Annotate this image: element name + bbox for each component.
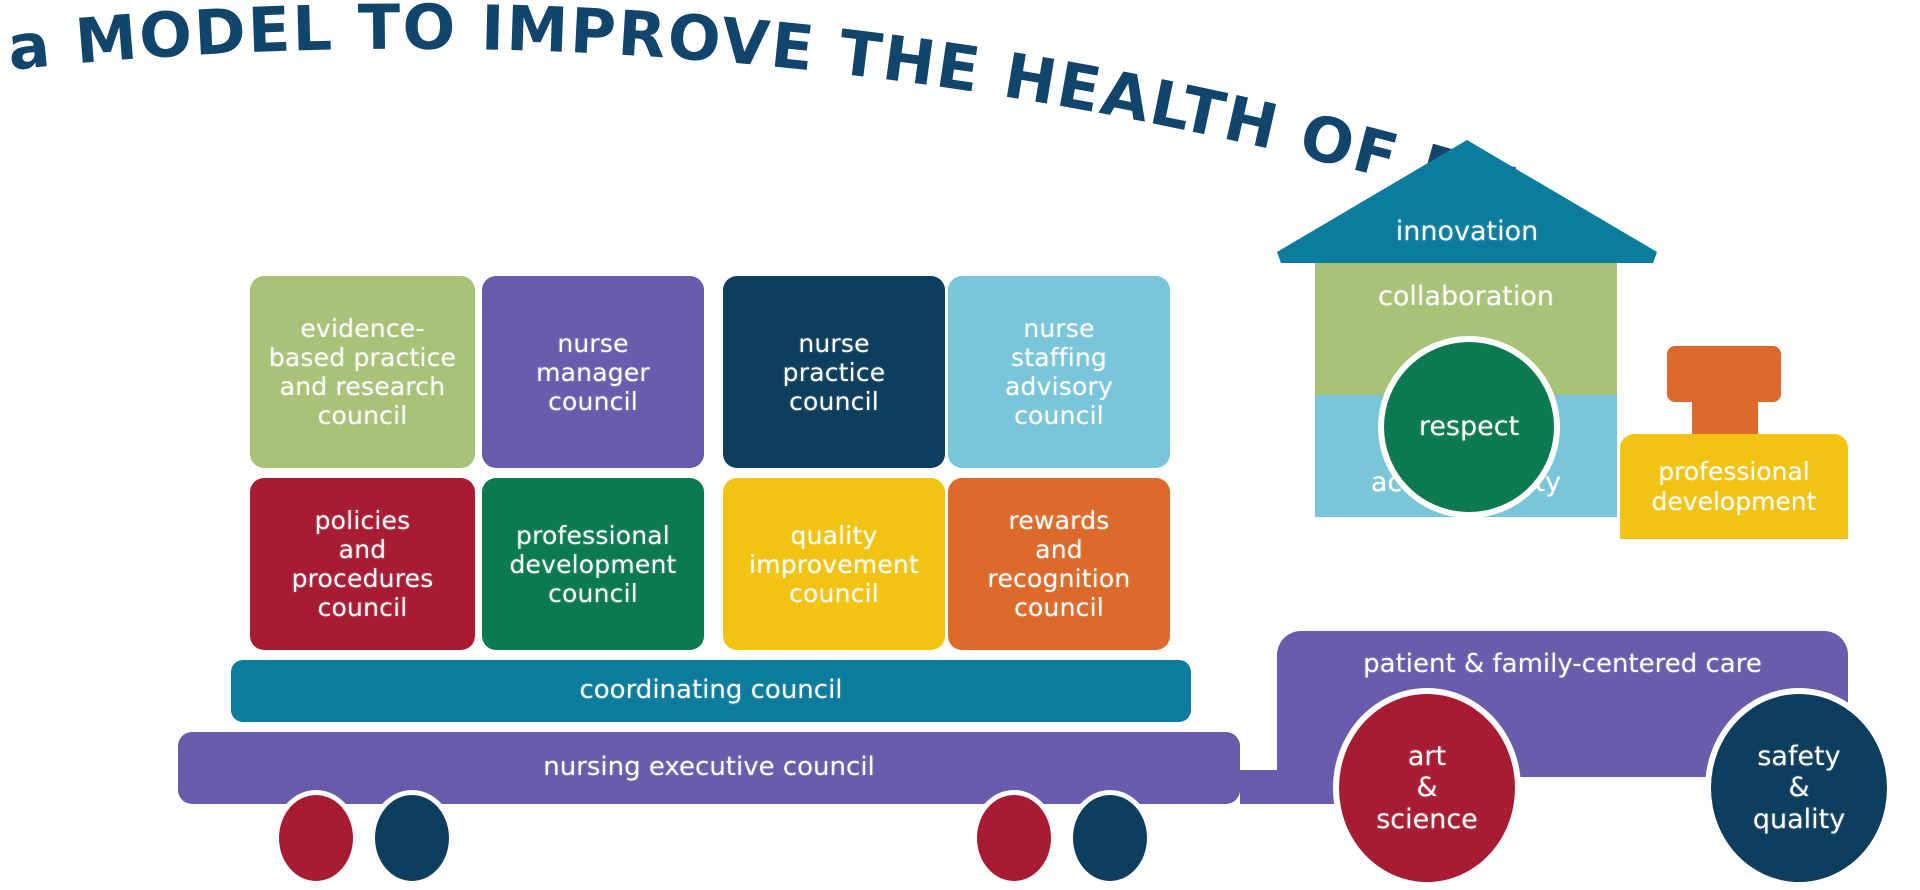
council-card-evidence-based-practice[interactable]: evidence- based practice and research co… — [250, 276, 475, 468]
council-card-rewards-and-recognition[interactable]: rewards and recognition council — [948, 478, 1170, 650]
diagram-canvas: a MODEL TO IMPROVE THE HEALTH OF EVERY C… — [0, 0, 1920, 890]
council-card-nurse-manager[interactable]: nurse manager council — [482, 276, 704, 468]
nursing-executive-council-bar[interactable]: nursing executive council — [178, 732, 1240, 804]
council-card-nurse-practice[interactable]: nurse practice council — [723, 276, 945, 468]
car-wheel-4 — [1068, 790, 1152, 886]
safety-and-quality-wheel[interactable]: safety & quality — [1705, 688, 1893, 888]
council-card-professional-development[interactable]: professional development council — [482, 478, 704, 650]
council-card-quality-improvement[interactable]: quality improvement council — [723, 478, 945, 650]
coordinating-council-bar[interactable]: coordinating council — [231, 660, 1191, 722]
car-wheel-3 — [972, 790, 1056, 886]
innovation-label: innovation — [1277, 216, 1657, 247]
council-card-policies-and-procedures[interactable]: policies and procedures council — [250, 478, 475, 650]
council-card-nurse-staffing-advisory[interactable]: nurse staffing advisory council — [948, 276, 1170, 468]
car-wheel-2 — [370, 790, 454, 886]
professional-development-box[interactable]: professional development — [1620, 434, 1848, 539]
art-and-science-wheel[interactable]: art & science — [1333, 688, 1521, 888]
car-wheel-1 — [274, 790, 358, 886]
respect-circle[interactable]: respect — [1378, 336, 1560, 518]
